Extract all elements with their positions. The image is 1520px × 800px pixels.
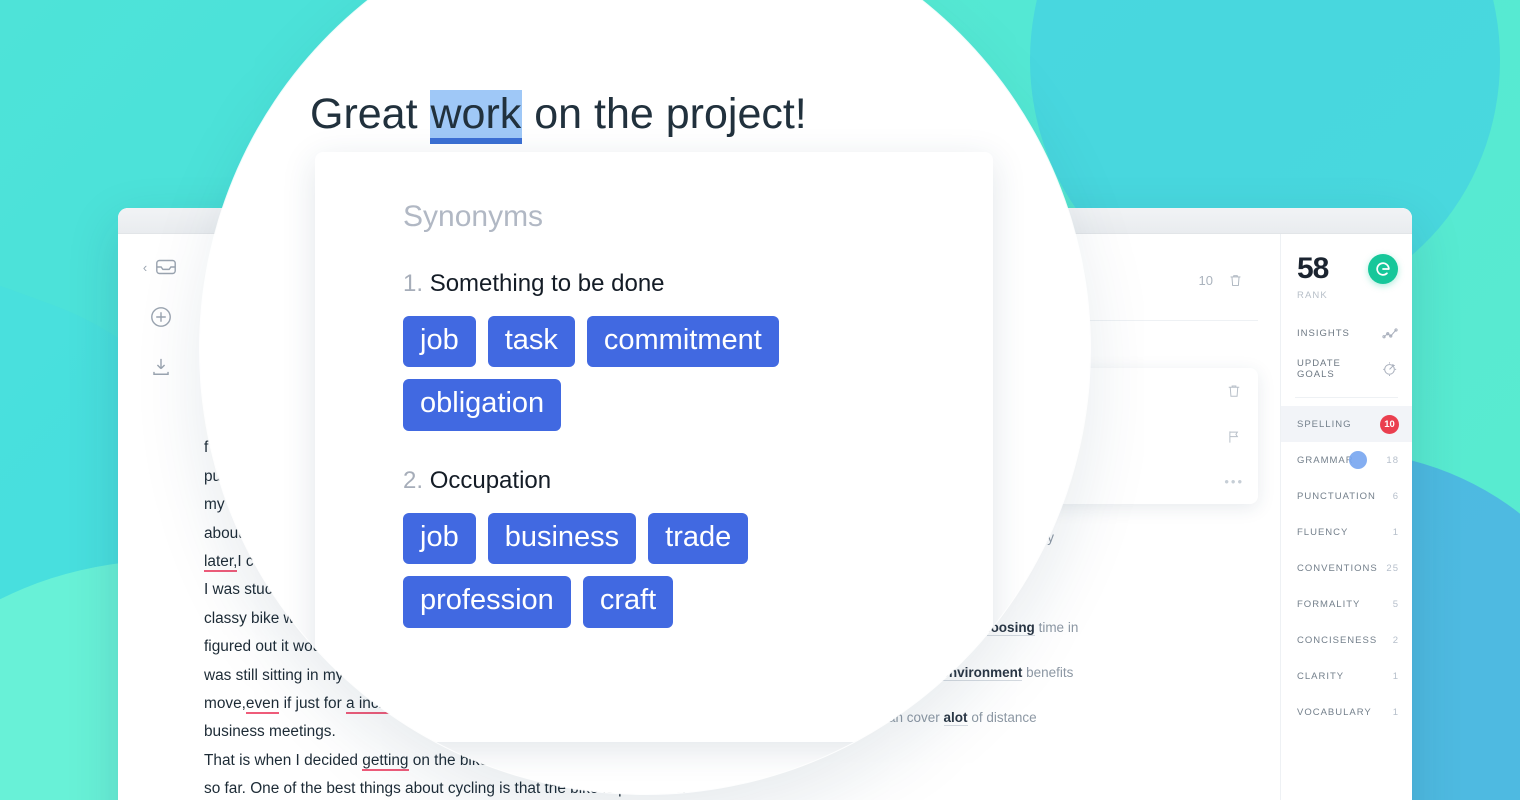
download-icon[interactable] [148, 354, 174, 380]
update-goals-label: UPDATE GOALS [1297, 358, 1381, 380]
synonym-chip[interactable]: trade [648, 513, 748, 564]
synonyms-section-heading: 1. Something to be done [403, 270, 993, 298]
category-count: 6 [1393, 491, 1399, 502]
category-label: FORMALITY [1297, 599, 1360, 610]
left-toolbar: ‹ [118, 208, 204, 800]
synonyms-popup[interactable]: Synonyms 1. Something to be done job tas… [315, 152, 993, 742]
synonyms-section-heading: 2. Occupation [403, 467, 993, 495]
synonym-chip-group: job task commitment obligation [403, 316, 923, 431]
category-label: CLARITY [1297, 671, 1344, 682]
target-goal-icon [1381, 360, 1399, 378]
category-count: 2 [1393, 635, 1399, 646]
category-label: GRAMMAR [1297, 455, 1354, 466]
synonym-chip[interactable]: obligation [403, 379, 561, 430]
trash-icon[interactable] [1227, 272, 1244, 289]
section-label: Something to be done [430, 270, 665, 297]
sidebar-item-insights[interactable]: INSIGHTS [1281, 315, 1412, 351]
synonym-chip-group: job business trade profession craft [403, 513, 923, 628]
category-count: 25 [1386, 563, 1399, 574]
status-badge: 10 [1380, 415, 1399, 434]
sidebar-category-conciseness[interactable]: CONCISENESS 2 [1281, 622, 1412, 658]
category-count: 1 [1393, 671, 1399, 682]
score-row: 58 [1281, 252, 1412, 286]
plus-circle-icon[interactable] [148, 304, 174, 330]
sidebar-category-clarity[interactable]: CLARITY 1 [1281, 658, 1412, 694]
category-label: SPELLING [1297, 419, 1351, 430]
suggestion-count: 10 [1199, 273, 1213, 288]
category-label: PUNCTUATION [1297, 491, 1376, 502]
headline-before: Great [310, 90, 430, 138]
synonyms-section-2: 2. Occupation job business trade profess… [403, 467, 993, 628]
document-headline[interactable]: Great work on the project! [310, 90, 807, 139]
score-label: RANK [1281, 286, 1412, 301]
highlighted-word[interactable]: work [430, 90, 523, 144]
sidebar-category-formality[interactable]: FORMALITY 5 [1281, 586, 1412, 622]
sidebar-category-spelling[interactable]: SPELLING 10 [1281, 406, 1412, 442]
performance-sidebar: 58 RANK INSIGHTS UPDATE GOALS SPE [1280, 208, 1412, 800]
insights-label: INSIGHTS [1297, 328, 1350, 339]
grammarly-g-icon[interactable] [1368, 254, 1398, 284]
category-label: VOCABULARY [1297, 707, 1372, 718]
category-count: 5 [1393, 599, 1399, 610]
more-dots-icon[interactable]: ••• [1224, 474, 1244, 489]
insights-chart-icon [1381, 324, 1399, 342]
doc-error-word[interactable]: getting [362, 752, 408, 771]
synonym-chip[interactable]: commitment [587, 316, 779, 367]
sidebar-category-vocabulary[interactable]: VOCABULARY 1 [1281, 694, 1412, 730]
section-label: Occupation [430, 467, 551, 494]
back-and-inbox-group[interactable]: ‹ [143, 254, 179, 280]
synonyms-section-1: 1. Something to be done job task commitm… [403, 270, 993, 431]
synonym-chip[interactable]: profession [403, 576, 571, 627]
fragment-line: my [1036, 530, 1258, 545]
synonym-chip[interactable]: job [403, 513, 476, 564]
category-label: CONCISENESS [1297, 635, 1377, 646]
sidebar-category-fluency[interactable]: FLUENCY 1 [1281, 514, 1412, 550]
section-number: 1. [403, 270, 423, 297]
category-label: CONVENTIONS [1297, 563, 1378, 574]
mouse-cursor-dot [1349, 451, 1367, 469]
inbox-icon[interactable] [153, 254, 179, 280]
category-count: 18 [1386, 455, 1399, 466]
synonym-chip[interactable]: craft [583, 576, 673, 627]
suggestion-card-actions: ••• [1224, 382, 1244, 489]
category-count: 1 [1393, 527, 1399, 538]
trash-icon[interactable] [1225, 382, 1243, 400]
sidebar-category-conventions[interactable]: CONVENTIONS 25 [1281, 550, 1412, 586]
doc-error-word[interactable]: even [246, 695, 279, 714]
sidebar-divider [1295, 397, 1398, 398]
synonyms-title: Synonyms [403, 200, 993, 234]
category-label: FLUENCY [1297, 527, 1348, 538]
section-number: 2. [403, 467, 423, 494]
synonym-chip[interactable]: business [488, 513, 636, 564]
sidebar-item-update-goals[interactable]: UPDATE GOALS [1281, 351, 1412, 387]
overall-score: 58 [1297, 252, 1328, 286]
synonym-chip[interactable]: task [488, 316, 575, 367]
synonym-chip[interactable]: job [403, 316, 476, 367]
sidebar-category-punctuation[interactable]: PUNCTUATION 6 [1281, 478, 1412, 514]
sidebar-category-grammar[interactable]: GRAMMAR 18 [1281, 442, 1412, 478]
category-count: 1 [1393, 707, 1399, 718]
back-chevron-icon[interactable]: ‹ [143, 261, 147, 274]
flag-icon[interactable] [1225, 428, 1243, 446]
doc-error-word[interactable]: later, [204, 553, 237, 572]
headline-after: on the project! [522, 90, 806, 138]
magnifier-lens: Great work on the project! Synonyms 1. S… [200, 0, 1090, 794]
